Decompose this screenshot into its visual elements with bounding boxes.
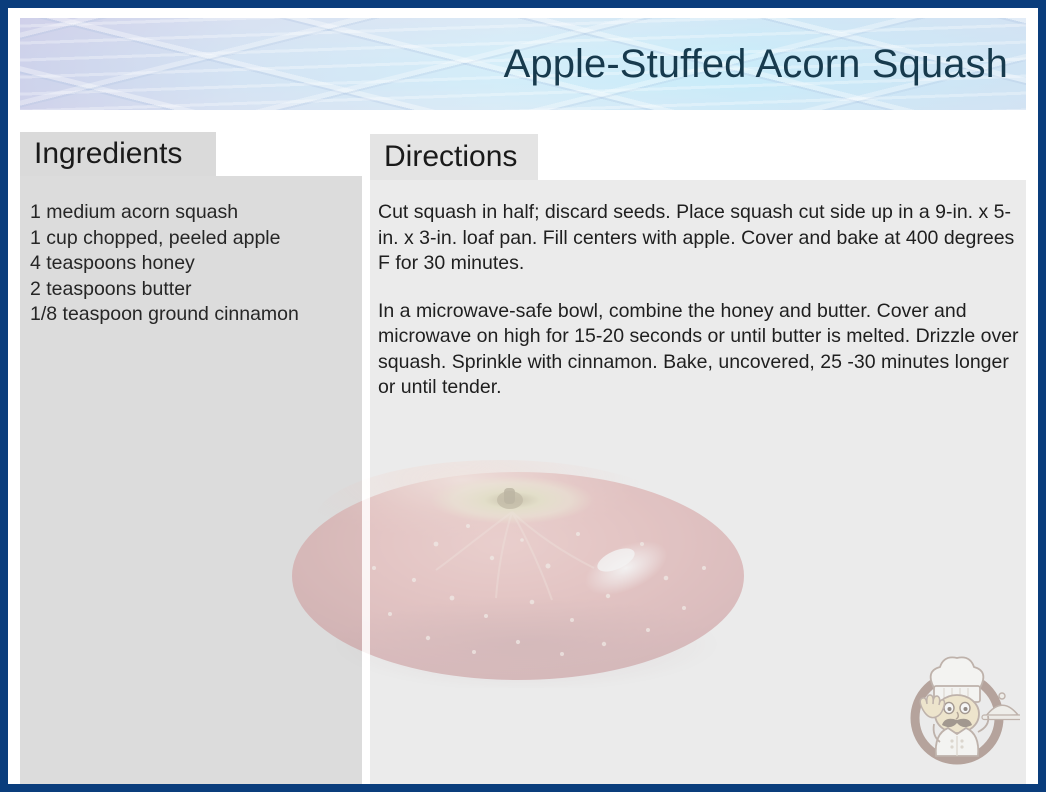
- slide-root: Apple-Stuffed Acorn Squash: [0, 0, 1046, 792]
- ingredients-heading: Ingredients: [34, 139, 182, 169]
- list-item: 2 teaspoons butter: [30, 277, 360, 303]
- directions-tab: Directions: [370, 134, 538, 180]
- panel-gutter: [362, 176, 370, 784]
- title-banner: Apple-Stuffed Acorn Squash: [20, 18, 1026, 110]
- slide-title: Apple-Stuffed Acorn Squash: [504, 43, 1008, 85]
- list-item: 4 teaspoons honey: [30, 251, 360, 277]
- ingredients-list: 1 medium acorn squash 1 cup chopped, pee…: [30, 200, 360, 328]
- list-item: 1 medium acorn squash: [30, 200, 360, 226]
- directions-paragraph: In a microwave-safe bowl, combine the ho…: [378, 299, 1024, 401]
- directions-paragraph: Cut squash in half; discard seeds. Place…: [378, 200, 1024, 277]
- slide-canvas: Apple-Stuffed Acorn Squash: [8, 8, 1038, 784]
- list-item: 1 cup chopped, peeled apple: [30, 226, 360, 252]
- directions-heading: Directions: [384, 142, 517, 172]
- directions-text: Cut squash in half; discard seeds. Place…: [378, 200, 1024, 401]
- ingredients-tab: Ingredients: [20, 132, 216, 176]
- list-item: 1/8 teaspoon ground cinnamon: [30, 302, 360, 328]
